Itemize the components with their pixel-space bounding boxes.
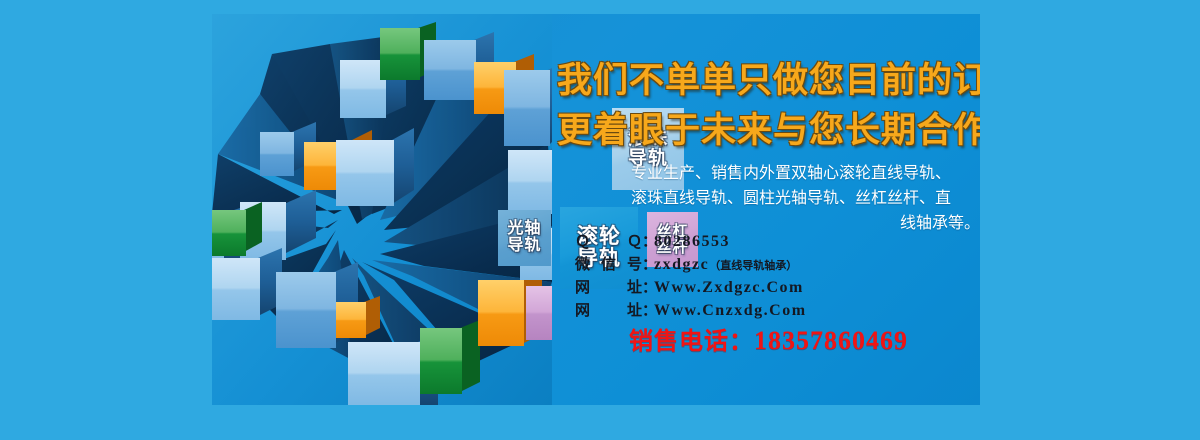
contact-value-wechat[interactable]: zxdgzc bbox=[654, 256, 709, 274]
promo-banner: 滚珠 导轨 光轴 导轨 滚轮 导轨 丝杠 丝杆 我们不单单只做您目前的订单 更着… bbox=[0, 0, 1200, 440]
contact-label-wechat: 微信号 bbox=[557, 253, 642, 274]
contact-row-qq: Ｑ Ｑ ： 80286553 bbox=[557, 230, 980, 253]
banner-inner-panel: 滚珠 导轨 光轴 导轨 滚轮 导轨 丝杠 丝杆 我们不单单只做您目前的订单 更着… bbox=[212, 14, 980, 405]
product-cube-shaft-guide-line2: 导轨 bbox=[507, 238, 541, 255]
contact-label-website-2: 网 址 bbox=[557, 299, 642, 320]
contact-row-website-1: 网 址 ： Www.Zxdgzc.Com bbox=[557, 276, 980, 299]
sales-phone-number[interactable]: 18357860469 bbox=[754, 326, 908, 355]
contact-label-qq: Ｑ Ｑ bbox=[557, 230, 642, 251]
contact-value-website-2[interactable]: Www.Cnzxdg.Com bbox=[654, 302, 807, 320]
headline-line-1: 我们不单单只做您目前的订单 bbox=[557, 52, 980, 103]
contact-row-website-2: 网 址 ： Www.Cnzxdg.Com bbox=[557, 299, 980, 322]
headline-line-2: 更着眼于未来与您长期合作 bbox=[557, 102, 980, 153]
contact-row-wechat: 微信号 ： zxdgzc （直线导轨轴承） bbox=[557, 253, 980, 276]
product-cube-shaft-guide-line1: 光轴 bbox=[507, 221, 541, 238]
contact-value-website-1[interactable]: Www.Zxdgzc.Com bbox=[654, 279, 804, 297]
company-description-line-1: 专业生产、销售内外置双轴心滚轮直线导轨、 bbox=[602, 162, 980, 187]
contact-colon-website-1: ： bbox=[642, 276, 654, 297]
contact-list: Ｑ Ｑ ： 80286553 微信号 ： zxdgzc （直线导轨轴承） 网 址… bbox=[557, 230, 980, 322]
sales-phone-label: 销售电话： bbox=[629, 328, 754, 355]
contact-note-wechat: （直线导轨轴承） bbox=[709, 257, 797, 273]
sales-phone: 销售电话：18357860469 bbox=[557, 321, 980, 356]
contact-colon-website-2: ： bbox=[642, 299, 654, 320]
contact-colon-qq: ： bbox=[642, 230, 654, 251]
company-description: 专业生产、销售内外置双轴心滚轮直线导轨、 滚珠直线导轨、圆柱光轴导轨、丝杠丝杆、… bbox=[602, 162, 980, 236]
product-cube-shaft-guide: 光轴 导轨 bbox=[498, 210, 551, 266]
contact-label-website-1: 网 址 bbox=[557, 276, 642, 297]
company-description-line-2: 滚珠直线导轨、圆柱光轴导轨、丝杠丝杆、直 bbox=[602, 187, 980, 212]
contact-value-qq[interactable]: 80286553 bbox=[654, 233, 730, 251]
contact-colon-wechat: ： bbox=[642, 253, 654, 274]
banner-copy-block: 我们不单单只做您目前的订单 更着眼于未来与您长期合作 专业生产、销售内外置双轴心… bbox=[557, 14, 980, 405]
